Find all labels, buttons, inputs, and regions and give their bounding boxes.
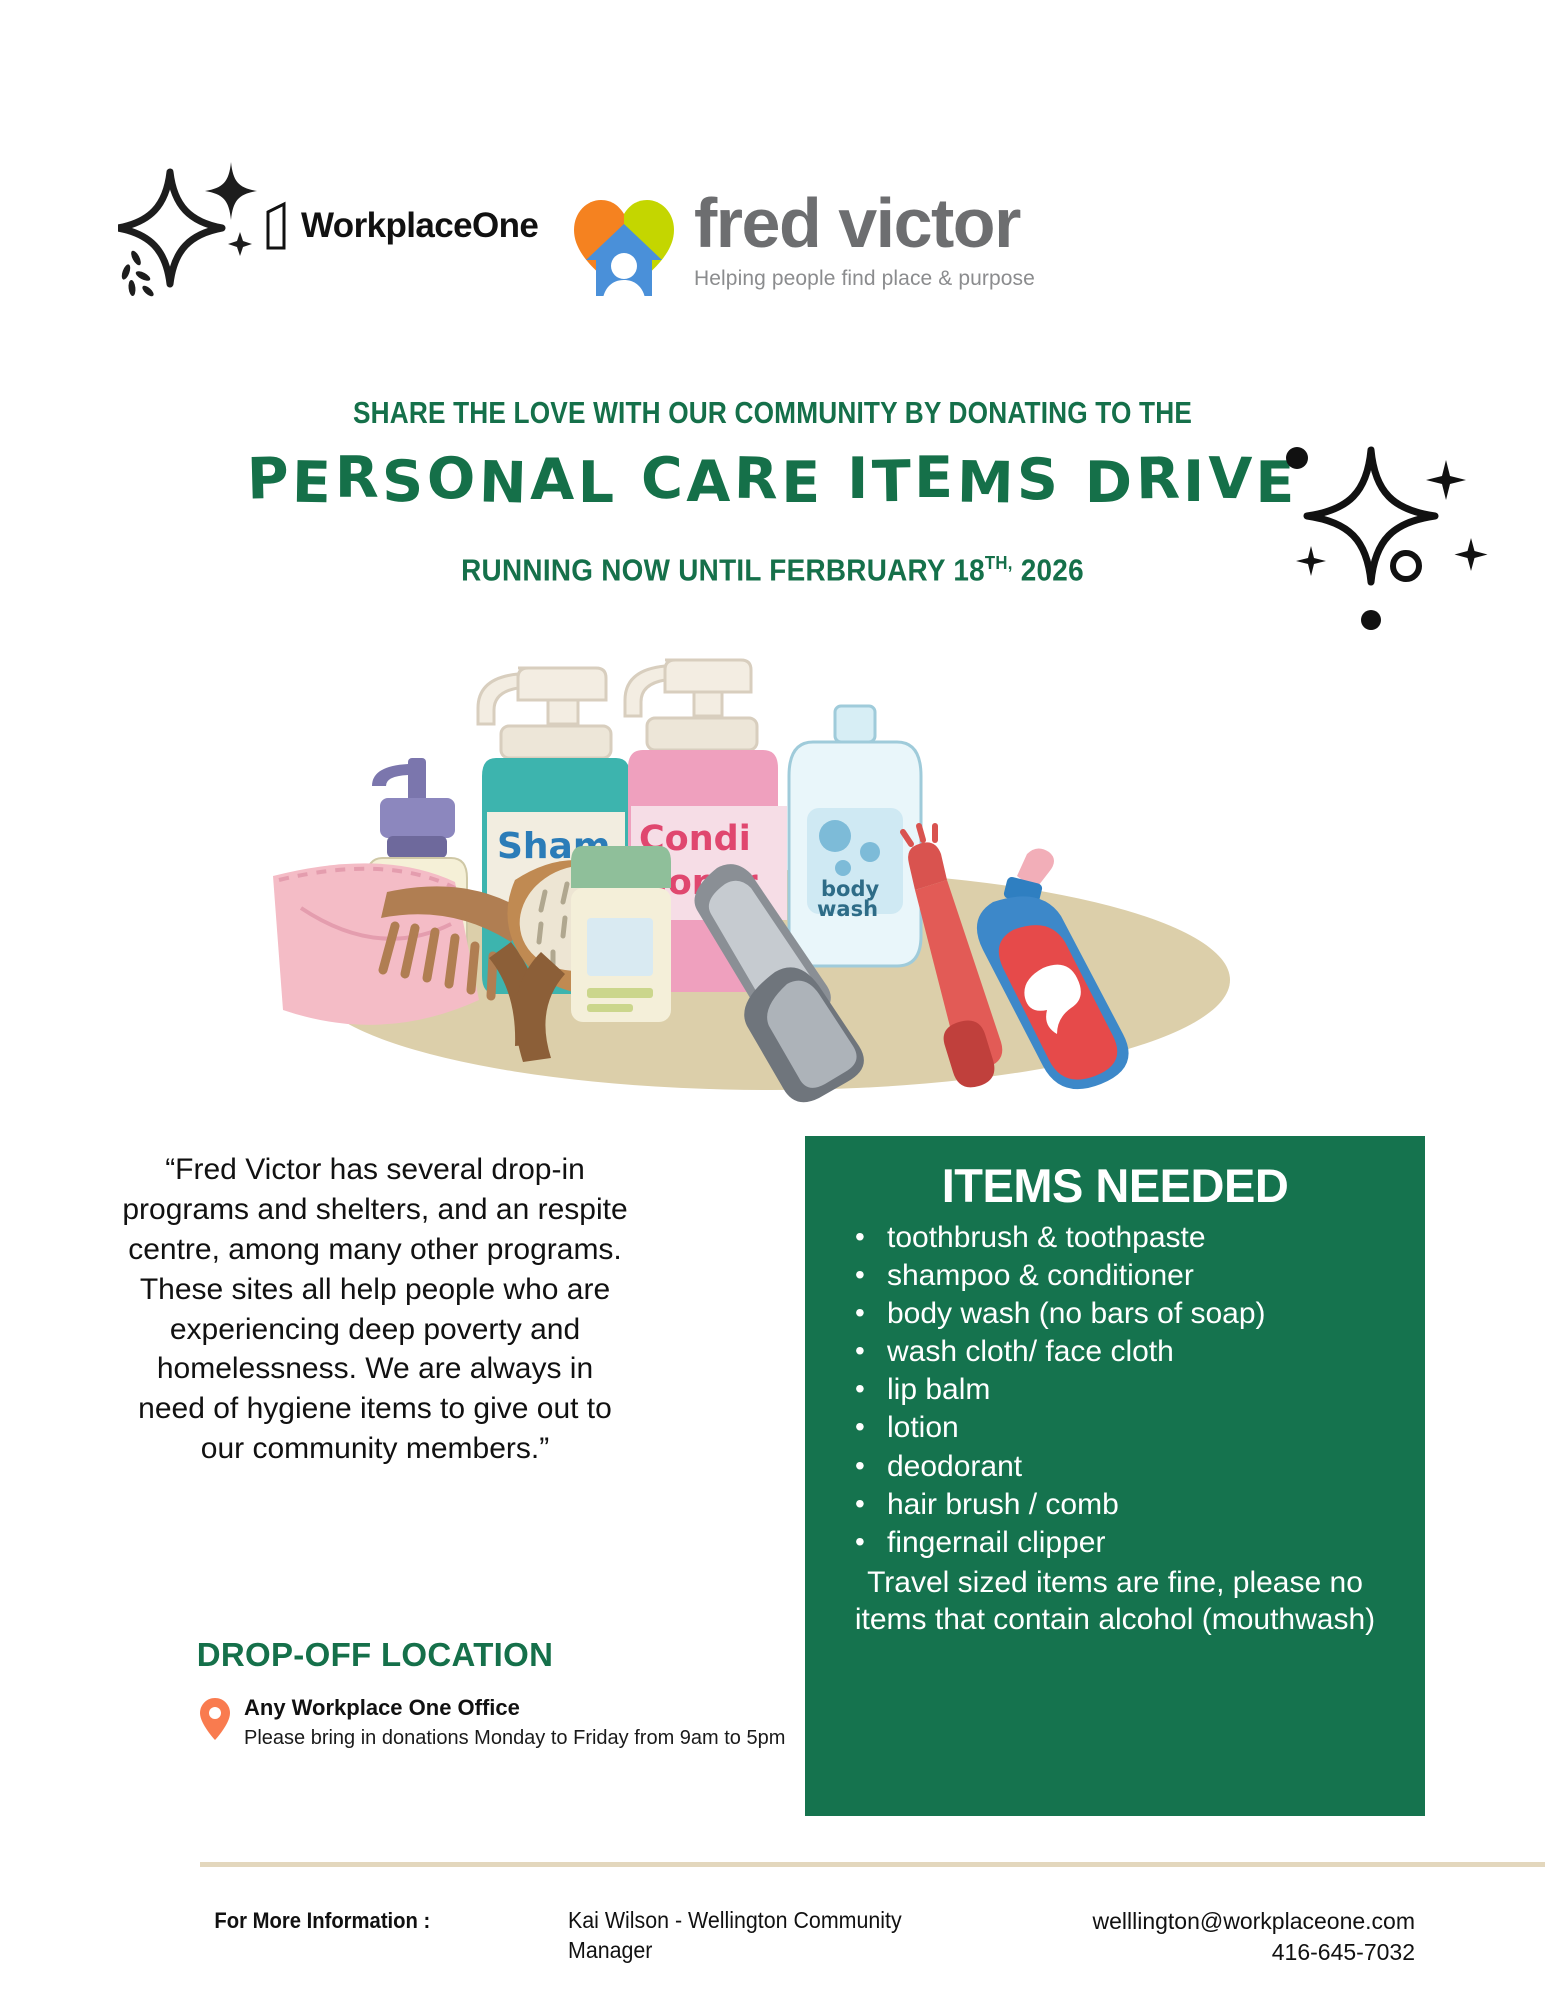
items-needed-heading: ITEMS NEEDED — [831, 1158, 1399, 1213]
fred-victor-heart-house-icon — [568, 190, 680, 298]
hero-subtitle: RUNNING NOW UNTIL FERBRUARY 18TH, 2026 — [77, 552, 1468, 588]
footer-email[interactable]: welllington@workplaceone.com — [1092, 1906, 1415, 1937]
footer-contact-person: Kai Wilson - Wellington Community Manage… — [568, 1906, 959, 1966]
dropoff-body: Any Workplace One Office Please bring in… — [200, 1694, 785, 1751]
fred-victor-logo: fred victor Helping people find place & … — [568, 160, 1035, 298]
list-item: shampoo & conditioner — [831, 1257, 1399, 1295]
list-item: deodorant — [831, 1448, 1399, 1486]
list-item: fingernail clipper — [831, 1524, 1399, 1562]
list-item: wash cloth/ face cloth — [831, 1333, 1399, 1371]
workplaceone-wordmark: WorkplaceOne — [301, 206, 538, 246]
fred-victor-wordmark: fred victor — [694, 190, 1035, 257]
dropoff-title: DROP-OFF LOCATION — [120, 1636, 630, 1674]
dropoff-place: Any Workplace One Office — [244, 1694, 785, 1723]
footer: For More Information : Kai Wilson - Well… — [0, 1890, 1545, 2000]
dropoff-note: Please bring in donations Monday to Frid… — [244, 1725, 785, 1751]
footer-contact-details: welllington@workplaceone.com 416-645-703… — [1092, 1906, 1415, 1968]
list-item: toothbrush & toothpaste — [831, 1219, 1399, 1257]
map-pin-icon — [200, 1698, 230, 1740]
fred-victor-tagline: Helping people find place & purpose — [694, 267, 1035, 291]
workplaceone-mark-icon — [265, 200, 287, 252]
sparkle-cluster-icon — [118, 160, 288, 305]
sparkle-burst-icon — [1275, 440, 1500, 640]
quote-text: “Fred Victor has several drop-in program… — [120, 1150, 630, 1469]
body-wash-bottle-icon: body wash — [789, 706, 921, 966]
items-needed-list: toothbrush & toothpaste shampoo & condit… — [831, 1219, 1399, 1562]
footer-phone[interactable]: 416-645-7032 — [1092, 1937, 1415, 1968]
footer-label: For More Information : — [214, 1908, 430, 1934]
hero-subtitle-ordinal: TH, — [985, 552, 1013, 573]
workplaceone-logo: WorkplaceOne — [265, 200, 538, 252]
header-logo-row: WorkplaceOne fred victor Helping people … — [0, 150, 1545, 300]
list-item: lip balm — [831, 1371, 1399, 1409]
hero-kicker: SHARE THE LOVE WITH OUR COMMUNITY BY DON… — [108, 396, 1437, 431]
svg-text:wash: wash — [817, 897, 878, 921]
list-item: body wash (no bars of soap) — [831, 1295, 1399, 1333]
hero-subtitle-year: 2026 — [1013, 552, 1084, 587]
personal-care-items-illustration: Sham poo Condi tioner body wash — [215, 640, 1325, 1110]
hero-subtitle-prefix: RUNNING NOW UNTIL FERBRUARY 18 — [461, 552, 985, 587]
list-item: lotion — [831, 1409, 1399, 1447]
footer-divider — [200, 1862, 1545, 1867]
list-item: hair brush / comb — [831, 1486, 1399, 1524]
items-needed-panel: ITEMS NEEDED toothbrush & toothpaste sha… — [805, 1136, 1425, 1816]
deodorant-icon — [571, 846, 671, 1022]
items-needed-footnote: Travel sized items are fine, please no i… — [831, 1564, 1399, 1639]
